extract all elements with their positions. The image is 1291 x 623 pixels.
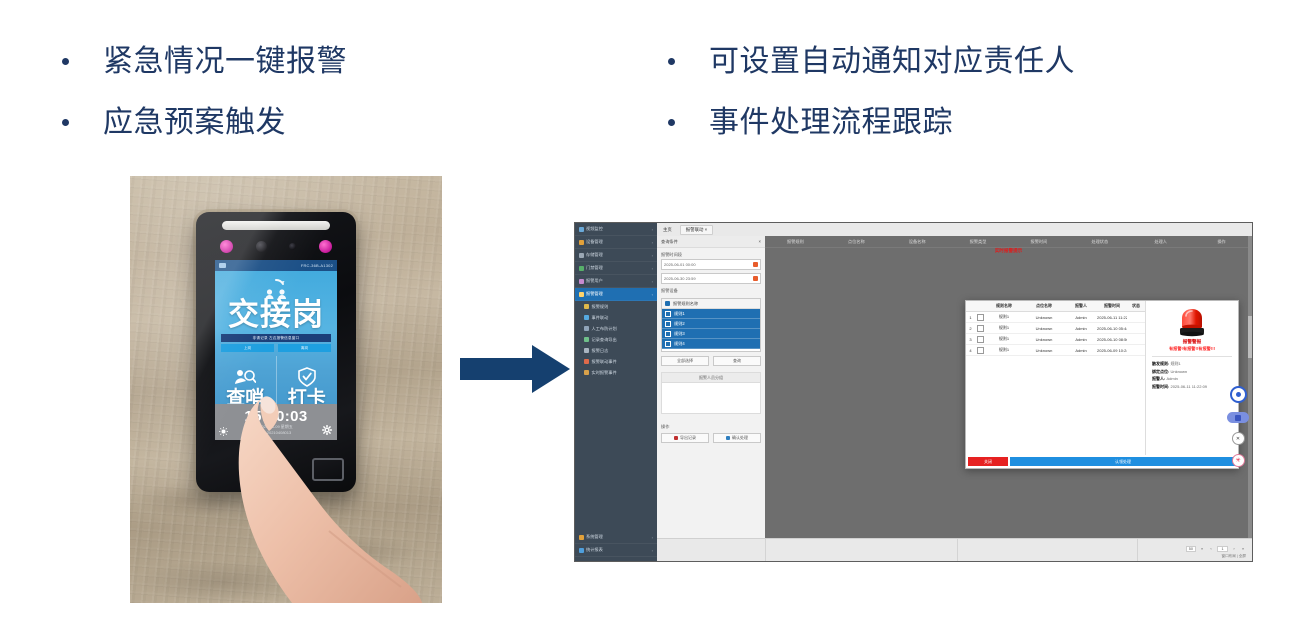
chevron-right-icon: › xyxy=(652,240,653,245)
list-item-label: 规则3 xyxy=(674,331,685,337)
sidebar-bottom-group: 系统管理 › 统计报表 › xyxy=(575,531,657,557)
alarm-popup-dialog: 规则名称 点位名称 报警人 报警时间 状态 1 规则1 Unknown Admi… xyxy=(965,300,1239,469)
cell-time: 2025-06-10 05:44:52 xyxy=(1097,326,1127,331)
sidebar-subitem-event[interactable]: 报警联动事件 xyxy=(575,356,657,367)
ir-led-left-icon xyxy=(220,240,233,253)
group-panel-header: 报警人员分组 xyxy=(661,372,761,383)
record-target-icon[interactable] xyxy=(1230,386,1247,403)
bullet-text: 紧急情况一键报警 xyxy=(103,42,347,83)
field-value: Unknown xyxy=(1170,369,1187,374)
screen-title: 交接岗 xyxy=(215,299,337,330)
alarm-field-rule: 触发规则: 规则1 xyxy=(1152,360,1232,368)
page-size-select[interactable]: 50 xyxy=(1186,546,1196,552)
tab-alarm-linkage[interactable]: 报警联动 × xyxy=(680,225,713,235)
column-header[interactable]: 处理状态 xyxy=(1069,239,1130,245)
screen-status-bar: FRC-36B-A1302 xyxy=(215,260,337,271)
sidebar-subitem-realtime[interactable]: 实时报警事件 xyxy=(575,367,657,378)
popup-table-area: 规则名称 点位名称 报警人 报警时间 状态 1 规则1 Unknown Admi… xyxy=(966,301,1146,468)
list-item-label: 规则2 xyxy=(674,321,685,327)
sidebar-item-video[interactable]: 视频监控 › xyxy=(575,223,657,236)
export-icon xyxy=(584,337,589,342)
time-range-label: 报警时间段 xyxy=(657,248,765,259)
chevron-left-icon: ‹ xyxy=(652,292,653,297)
scrollbar-thumb[interactable] xyxy=(1248,316,1252,358)
door-icon xyxy=(579,266,584,271)
slide-root: 紧急情况一键报警 应急预案触发 可设置自动通知对应责任人 事件处理流程跟踪 xyxy=(0,0,1291,623)
column-header[interactable]: 报警时间 xyxy=(1009,239,1070,245)
filter-header: 查询条件 × xyxy=(657,236,765,248)
list-item-label: 规则4 xyxy=(674,341,685,347)
time-to-value: 2025-06-30 23:59 xyxy=(664,276,696,281)
cell-point: Unknown xyxy=(1023,337,1065,342)
divider xyxy=(1152,356,1232,357)
bullet-column-right: 可设置自动通知对应责任人 事件处理流程跟踪 xyxy=(668,42,1138,143)
column-header-time[interactable]: 报警时间 xyxy=(1097,303,1127,309)
sidebar-item-label: 视频监控 xyxy=(586,226,650,232)
rule-icon xyxy=(584,304,589,309)
cell-rule: 规则1 xyxy=(985,314,1023,320)
time-from-value: 2025-06-01 00:00 xyxy=(664,262,696,267)
collapse-icon[interactable]: × xyxy=(759,239,761,244)
row-checkbox[interactable] xyxy=(665,311,671,317)
calendar-icon[interactable] xyxy=(753,276,758,281)
sidebar-subitem-plan[interactable]: 人工布防计划 xyxy=(575,323,657,334)
sidebar-item-label: 记录查询导出 xyxy=(592,337,617,343)
field-label: 报警时间: xyxy=(1152,384,1169,389)
plan-icon xyxy=(584,326,589,331)
camera-lens-icon xyxy=(256,241,267,252)
cell-point: Unknown xyxy=(1023,326,1065,331)
export-records-button[interactable]: 导出记录 xyxy=(661,433,709,443)
list-item: 可设置自动通知对应责任人 xyxy=(668,42,1138,83)
light-sensor-icon xyxy=(289,243,296,250)
table-header-row: 规则名称 点位名称 报警人 报警时间 状态 xyxy=(966,301,1145,312)
chevron-right-icon: › xyxy=(652,279,653,284)
group-panel-body[interactable] xyxy=(661,383,761,414)
confirm-label: 确认处理 xyxy=(732,435,748,441)
export-icon xyxy=(674,436,678,440)
content-area: 报警规则 点位名称 设备名称 报警类型 报警时间 处理状态 处理人 操作 实时报… xyxy=(765,236,1252,539)
cell-user: Admin xyxy=(1065,326,1097,331)
right-arrow-icon xyxy=(460,345,570,393)
field-value: 规则1 xyxy=(1170,361,1180,366)
camera-array xyxy=(220,238,332,254)
prev-page-button[interactable]: ‹ xyxy=(1208,547,1214,551)
event-icon xyxy=(584,359,589,364)
pointing-hand xyxy=(233,381,423,603)
grid-column-headers: 报警规则 点位名称 设备名称 报警类型 报警时间 处理状态 处理人 操作 xyxy=(765,236,1252,248)
statusbar-pagination: 50 « ‹ 1 › » xyxy=(1186,546,1246,552)
network-icon xyxy=(219,263,226,268)
filter-title: 查询条件 xyxy=(661,239,678,245)
calendar-icon[interactable] xyxy=(753,262,758,267)
device-icon xyxy=(579,240,584,245)
group-panel: 报警人员分组 xyxy=(661,372,761,414)
column-header[interactable]: 报警规则 xyxy=(765,239,826,245)
cell-time: 2025-06-10 08:56:06 xyxy=(1097,337,1127,342)
off-duty-button[interactable]: 离岗 xyxy=(278,344,331,352)
bullet-dot-icon xyxy=(62,58,69,65)
column-header[interactable]: 处理人 xyxy=(1130,239,1191,245)
last-page-button[interactable]: » xyxy=(1240,547,1246,551)
sidebar-subitem-log[interactable]: 报警日志 xyxy=(575,345,657,356)
close-circle-icon[interactable]: ✕ xyxy=(1232,432,1245,445)
select-all-checkbox[interactable] xyxy=(665,301,670,306)
filter-buttons: 全部选择 查询 xyxy=(661,356,761,366)
sidebar-item-label: 报警用户 xyxy=(586,278,650,284)
sidebar-item-alarm-management[interactable]: 报警管理 ‹ xyxy=(575,288,657,301)
row-checkbox[interactable] xyxy=(665,341,671,347)
row-index: 1 xyxy=(966,315,975,320)
chevron-right-icon: › xyxy=(652,535,653,540)
cell-point: Unknown xyxy=(1023,315,1065,320)
device-id-label: FRC-36B-A1302 xyxy=(301,263,333,268)
sidebar-item-label: 报警联动事件 xyxy=(592,359,617,365)
link-icon xyxy=(584,315,589,320)
field-value: 2025-06-11 11:22:09 xyxy=(1170,384,1207,389)
row-checkbox[interactable] xyxy=(977,325,984,332)
app-sidebar: 视频监控 › 设备管理 › 存储管理 › 门禁管理 › 报警用户 › xyxy=(575,223,657,561)
group-label: 报警设备 xyxy=(657,284,765,295)
cell-rule: 规则1 xyxy=(985,325,1023,331)
sidebar-item-device[interactable]: 设备管理 › xyxy=(575,236,657,249)
report-icon xyxy=(579,548,584,553)
sidebar-item-system[interactable]: 系统管理 › xyxy=(575,531,657,544)
table-row[interactable]: 3 规则1 Unknown Admin 2025-06-10 08:56:06 xyxy=(966,334,1145,345)
chevron-right-icon: › xyxy=(652,227,653,232)
bullet-text: 事件处理流程跟踪 xyxy=(709,103,953,144)
list-item: 紧急情况一键报警 xyxy=(62,42,482,83)
alarm-title: 报警警报 xyxy=(1183,339,1201,345)
column-header-state[interactable]: 状态 xyxy=(1127,303,1145,309)
row-index: 4 xyxy=(966,348,975,353)
filter-panel: 查询条件 × 报警时间段 2025-06-01 00:00 2025-06-30… xyxy=(657,236,766,539)
tab-home[interactable]: 主页 xyxy=(663,227,672,233)
sidebar-item-storage[interactable]: 存储管理 › xyxy=(575,249,657,262)
alarm-field-time: 报警时间: 2025-06-11 11:22:09 xyxy=(1152,383,1232,391)
row-index: 2 xyxy=(966,326,975,331)
row-checkbox-cell[interactable] xyxy=(975,314,985,321)
column-header[interactable]: 设备名称 xyxy=(887,239,948,245)
time-to-input[interactable]: 2025-06-30 23:59 xyxy=(661,273,761,284)
alarm-detail-panel: 报警警报 有报警!有报警!!有报警!!! 触发规则: 规则1 绑定点位: Unk… xyxy=(1146,301,1238,468)
close-button[interactable]: 关闭 xyxy=(968,457,1008,466)
row-checkbox[interactable] xyxy=(665,331,671,337)
sidebar-item-label: 门禁管理 xyxy=(586,265,650,271)
bullet-text: 应急预案触发 xyxy=(103,103,286,144)
row-checkbox[interactable] xyxy=(977,314,984,321)
sidebar-item-label: 统计报表 xyxy=(586,547,650,553)
sidebar-item-label: 报警管理 xyxy=(586,291,650,297)
bullet-column-left: 紧急情况一键报警 应急预案触发 xyxy=(62,42,482,143)
row-checkbox-cell[interactable] xyxy=(975,325,985,332)
list-item[interactable]: 规则1 xyxy=(662,309,760,319)
list-item[interactable]: 规则4 xyxy=(662,339,760,349)
list-item: 事件处理流程跟踪 xyxy=(668,103,1138,144)
sidebar-subitem-rule[interactable]: 报警规则 xyxy=(575,301,657,312)
claim-button[interactable]: 认领处理 xyxy=(1010,457,1236,466)
realtime-icon xyxy=(584,370,589,375)
column-header-user[interactable]: 报警人 xyxy=(1065,303,1097,309)
storage-icon xyxy=(579,253,584,258)
notice-text: 非请记录 左边报警信息窗口 xyxy=(253,336,300,341)
rule-list[interactable]: 报警规则名称 规则1 规则2 规则3 规则4 xyxy=(661,298,761,352)
alert-message: 实时报警提示 xyxy=(765,248,1252,254)
alarm-circle-icon[interactable]: ✳ xyxy=(1232,454,1245,467)
table-row[interactable]: 1 规则1 Unknown Admin 2025-06-11 11:22:09 xyxy=(966,312,1145,323)
chevron-right-icon: › xyxy=(652,266,653,271)
sidebar-item-label: 人工布防计划 xyxy=(592,326,617,332)
field-label: 报警人: xyxy=(1152,376,1165,381)
alarm-field-user: 报警人: Admin xyxy=(1152,375,1232,383)
table-row[interactable]: 2 规则1 Unknown Admin 2025-06-10 05:44:52 xyxy=(966,323,1145,334)
select-all-button[interactable]: 全部选择 xyxy=(661,356,709,366)
confirm-icon xyxy=(726,436,730,440)
app-statusbar: 50 « ‹ 1 › » 窗口布局 | 全屏 xyxy=(657,538,1252,561)
bullet-dot-icon xyxy=(668,119,675,126)
column-header[interactable]: 报警类型 xyxy=(948,239,1009,245)
floating-controls: ✕ ✳ xyxy=(1227,386,1249,467)
list-item[interactable]: 规则2 xyxy=(662,319,760,329)
sidebar-item-door[interactable]: 门禁管理 › xyxy=(575,262,657,275)
rule-list-header-label: 报警规则名称 xyxy=(673,301,698,307)
system-icon xyxy=(579,535,584,540)
brightness-icon[interactable] xyxy=(219,423,228,432)
row-index: 3 xyxy=(966,337,975,342)
chevron-right-icon: › xyxy=(652,548,653,553)
field-value: Admin xyxy=(1166,376,1177,381)
field-label: 触发规则: xyxy=(1152,361,1169,366)
column-header-point[interactable]: 点位名称 xyxy=(1023,303,1065,309)
screen-notice-bar: 非请记录 左边报警信息窗口 xyxy=(221,334,331,342)
cell-rule: 规则1 xyxy=(985,336,1023,342)
sidebar-item-label: 存储管理 xyxy=(586,252,650,258)
cell-point: Unknown xyxy=(1023,348,1065,353)
popup-action-buttons: 关闭 认领处理 xyxy=(966,455,1238,468)
bullet-text: 可设置自动通知对应责任人 xyxy=(709,42,1075,83)
speaker-slot xyxy=(222,221,330,230)
sidebar-item-label: 报警日志 xyxy=(592,348,609,354)
next-page-button[interactable]: › xyxy=(1231,547,1237,551)
cell-user: Admin xyxy=(1065,337,1097,342)
sidebar-item-label: 事件联动 xyxy=(592,315,609,321)
confirm-handle-button[interactable]: 确认处理 xyxy=(713,433,761,443)
list-item: 应急预案触发 xyxy=(62,103,482,144)
column-header-rule[interactable]: 规则名称 xyxy=(985,303,1023,309)
screen-notice-buttons: 上岗 离岗 xyxy=(221,344,331,352)
row-checkbox-cell[interactable] xyxy=(975,336,985,343)
list-item-label: 规则1 xyxy=(674,311,685,317)
operations-label: 操作 xyxy=(657,424,765,430)
user-icon xyxy=(579,279,584,284)
alarm-subtitle: 有报警!有报警!!有报警!!! xyxy=(1169,346,1215,352)
row-checkbox-cell[interactable] xyxy=(975,347,985,354)
first-page-button[interactable]: « xyxy=(1199,547,1205,551)
sidebar-subitem-export[interactable]: 记录查询导出 xyxy=(575,334,657,345)
table-row[interactable]: 4 规则1 Unknown Admin 2025-06-09 10:24:13 xyxy=(966,345,1145,356)
device-photo: FRC-36B-A1302 交接岗 非请记录 左边报警信息窗口 xyxy=(130,176,442,603)
time-from-input[interactable]: 2025-06-01 00:00 xyxy=(661,259,761,270)
shift-handover-icon xyxy=(263,278,289,300)
statusbar-right-text: 窗口布局 | 全屏 xyxy=(1222,554,1247,559)
field-label: 绑定点位: xyxy=(1152,369,1169,374)
sidebar-subitem-link[interactable]: 事件联动 xyxy=(575,312,657,323)
chevron-right-icon: › xyxy=(652,253,653,258)
cell-rule: 规则1 xyxy=(985,347,1023,353)
cell-time: 2025-06-09 10:24:13 xyxy=(1097,348,1127,353)
search-button[interactable]: 查询 xyxy=(713,356,761,366)
statusbar-dividers xyxy=(657,539,1252,561)
video-icon xyxy=(579,227,584,232)
cell-user: Admin xyxy=(1065,315,1097,320)
sidebar-item-label: 报警规则 xyxy=(592,304,609,310)
page-input[interactable]: 1 xyxy=(1217,546,1228,552)
rule-list-header: 报警规则名称 xyxy=(662,299,760,309)
sidebar-item-label: 设备管理 xyxy=(586,239,650,245)
log-icon xyxy=(584,348,589,353)
alarm-icon xyxy=(579,292,584,297)
column-header[interactable]: 点位名称 xyxy=(826,239,887,245)
sidebar-item-alarm-user[interactable]: 报警用户 › xyxy=(575,275,657,288)
column-header[interactable]: 操作 xyxy=(1191,239,1252,245)
row-checkbox[interactable] xyxy=(977,347,984,354)
cell-user: Admin xyxy=(1065,348,1097,353)
alarm-beacon-icon xyxy=(1175,307,1209,337)
sidebar-item-label: 系统管理 xyxy=(586,534,650,540)
export-label: 导出记录 xyxy=(680,435,696,441)
bullet-dot-icon xyxy=(62,119,69,126)
cell-time: 2025-06-11 11:22:09 xyxy=(1097,315,1127,320)
ir-led-right-icon xyxy=(319,240,332,253)
software-screenshot: 视频监控 › 设备管理 › 存储管理 › 门禁管理 › 报警用户 › xyxy=(575,223,1252,561)
row-checkbox[interactable] xyxy=(977,336,984,343)
operation-buttons: 导出记录 确认处理 xyxy=(661,433,761,443)
layout-toggle-icon[interactable] xyxy=(1227,412,1249,423)
row-checkbox[interactable] xyxy=(665,321,671,327)
sidebar-item-report[interactable]: 统计报表 › xyxy=(575,544,657,557)
bullet-dot-icon xyxy=(668,58,675,65)
on-duty-button[interactable]: 上岗 xyxy=(221,344,274,352)
list-item[interactable]: 规则3 xyxy=(662,329,760,339)
sidebar-item-label: 实时报警事件 xyxy=(592,370,617,376)
alarm-field-point: 绑定点位: Unknown xyxy=(1152,368,1232,376)
app-topbar: 主页 报警联动 × xyxy=(657,223,1252,236)
